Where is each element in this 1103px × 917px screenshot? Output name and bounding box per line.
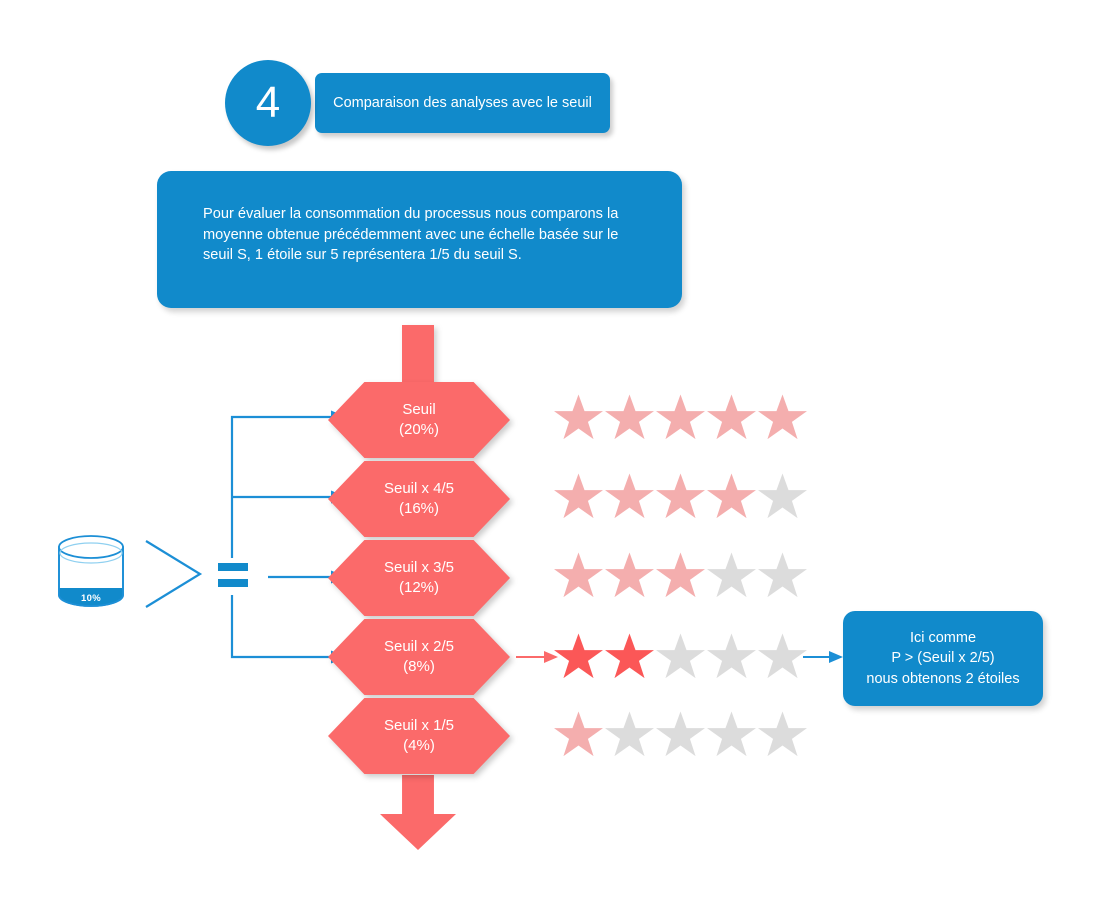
star-rating-row-4 <box>553 631 808 683</box>
description-text: Pour évaluer la consommation du processu… <box>203 204 635 266</box>
hexagon-shape <box>328 382 510 458</box>
hexagon-row-4[interactable]: Seuil x 2/5 (8%) <box>328 619 510 695</box>
star-icon <box>604 473 655 522</box>
greater-than-chevron <box>146 541 200 607</box>
star-rating-row-3 <box>553 550 808 602</box>
description-box: Pour évaluer la consommation du processu… <box>157 171 682 308</box>
database-cylinder-icon: 10% <box>55 531 127 611</box>
star-icon <box>655 473 706 522</box>
star-icon <box>655 633 706 682</box>
star-icon <box>757 394 808 443</box>
star-icon <box>757 633 808 682</box>
star-icon <box>553 394 604 443</box>
star-icon <box>757 473 808 522</box>
equals-bar-upper <box>218 563 248 571</box>
threshold-scale-hexagons: Seuil (20%) Seuil x 4/5 (16%) Seuil x 3/… <box>328 382 518 774</box>
connector-lines <box>0 0 1103 917</box>
star-icon <box>655 711 706 760</box>
hexagon-shape <box>328 698 510 774</box>
hexagon-shape <box>328 619 510 695</box>
hexagon-row-2[interactable]: Seuil x 4/5 (16%) <box>328 461 510 537</box>
database-value-label: 10% <box>55 593 127 604</box>
star-icon <box>553 633 604 682</box>
star-icon <box>604 552 655 601</box>
hexagon-row-5[interactable]: Seuil x 1/5 (4%) <box>328 698 510 774</box>
step-number-label: 4 <box>256 81 280 125</box>
star-icon <box>604 633 655 682</box>
star-icon <box>604 711 655 760</box>
hexagon-row-1[interactable]: Seuil (20%) <box>328 382 510 458</box>
hexagon-shape <box>328 461 510 537</box>
star-rating-row-2 <box>553 471 808 523</box>
result-callout-text: Ici comme P > (Seuil x 2/5) nous obtenon… <box>866 628 1019 690</box>
result-callout-box: Ici comme P > (Seuil x 2/5) nous obtenon… <box>843 611 1043 706</box>
star-icon <box>604 394 655 443</box>
diagram-canvas: 4 Comparaison des analyses avec le seuil… <box>0 0 1103 917</box>
star-icon <box>655 394 706 443</box>
star-icon <box>757 711 808 760</box>
step-number-badge: 4 <box>225 60 311 146</box>
star-icon <box>706 633 757 682</box>
star-icon <box>655 552 706 601</box>
hexagon-row-3[interactable]: Seuil x 3/5 (12%) <box>328 540 510 616</box>
star-rating-row-1 <box>553 392 808 444</box>
step-title-label: Comparaison des analyses avec le seuil <box>333 94 592 112</box>
star-icon <box>553 473 604 522</box>
step-title-box: Comparaison des analyses avec le seuil <box>315 73 610 133</box>
equals-bar-lower <box>218 579 248 587</box>
star-rating-row-5 <box>553 709 808 761</box>
star-icon <box>706 473 757 522</box>
star-icon <box>706 394 757 443</box>
equals-sign <box>218 563 248 589</box>
star-icon <box>706 711 757 760</box>
star-icon <box>553 711 604 760</box>
star-icon <box>757 552 808 601</box>
star-icon <box>706 552 757 601</box>
star-icon <box>553 552 604 601</box>
hexagon-shape <box>328 540 510 616</box>
